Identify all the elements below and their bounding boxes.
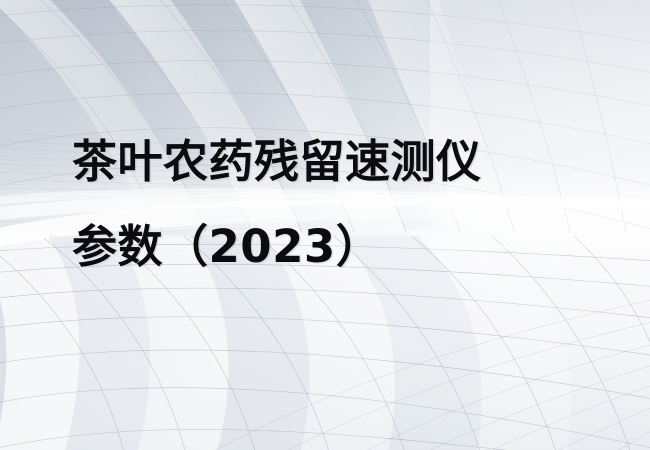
banner-title: 茶叶农药残留速测仪 参数（2023） bbox=[72, 139, 592, 269]
title-line-2: 参数（2023） bbox=[72, 224, 592, 269]
title-line-1: 茶叶农药残留速测仪 bbox=[72, 139, 592, 184]
banner-image: 茶叶农药残留速测仪 参数（2023） bbox=[0, 0, 650, 450]
